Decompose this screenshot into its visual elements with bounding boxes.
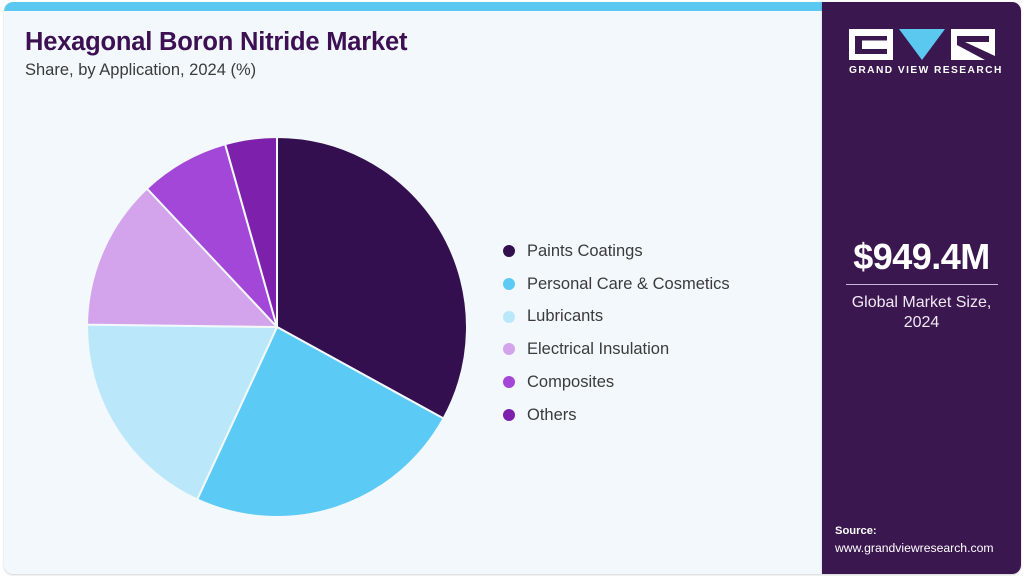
legend-item[interactable]: Lubricants	[503, 300, 803, 333]
legend-item[interactable]: Electrical Insulation	[503, 333, 803, 366]
legend-item-label: Personal Care & Cosmetics	[527, 276, 730, 293]
legend-item[interactable]: Composites	[503, 366, 803, 399]
pie-slice-group	[87, 137, 467, 517]
legend-swatch-icon	[503, 245, 515, 257]
chart-canvas: Hexagonal Boron Nitride Market Share, by…	[0, 0, 1025, 576]
pie-chart-svg	[87, 137, 467, 517]
legend-swatch-icon	[503, 343, 515, 355]
source-block: Source: www.grandviewresearch.com	[835, 524, 1021, 556]
chart-legend: Paints CoatingsPersonal Care & Cosmetics…	[503, 235, 803, 431]
legend-item-label: Electrical Insulation	[527, 341, 669, 358]
legend-item[interactable]: Personal Care & Cosmetics	[503, 268, 803, 301]
brand-sidebar: GRAND VIEW RESEARCH $949.4M Global Marke…	[822, 2, 1021, 574]
brand-logo: GRAND VIEW RESEARCH	[849, 29, 995, 79]
market-size-value: $949.4M	[822, 238, 1021, 276]
legend-item[interactable]: Others	[503, 398, 803, 431]
stat-divider	[846, 284, 998, 285]
legend-item-label: Composites	[527, 374, 614, 391]
source-label: Source:	[835, 524, 1021, 539]
legend-item-label: Lubricants	[527, 308, 603, 325]
pie-chart	[87, 137, 467, 517]
chart-card: Hexagonal Boron Nitride Market Share, by…	[4, 2, 822, 574]
source-url[interactable]: www.grandviewresearch.com	[835, 540, 1021, 556]
legend-item[interactable]: Paints Coatings	[503, 235, 803, 268]
page-subtitle: Share, by Application, 2024 (%)	[25, 61, 256, 80]
gvr-logo-v-triangle-icon	[899, 29, 945, 60]
legend-swatch-icon	[503, 376, 515, 388]
legend-swatch-icon	[503, 278, 515, 290]
top-accent-bar	[4, 2, 822, 11]
gvr-logo-mark-icon	[849, 29, 995, 60]
brand-name: GRAND VIEW RESEARCH	[849, 65, 995, 76]
market-size-stat: $949.4M Global Market Size, 2024	[822, 238, 1021, 333]
legend-item-label: Others	[527, 407, 577, 424]
page-title: Hexagonal Boron Nitride Market	[25, 28, 407, 57]
legend-item-label: Paints Coatings	[527, 243, 643, 260]
legend-swatch-icon	[503, 409, 515, 421]
legend-swatch-icon	[503, 311, 515, 323]
market-size-caption: Global Market Size, 2024	[822, 293, 1021, 333]
